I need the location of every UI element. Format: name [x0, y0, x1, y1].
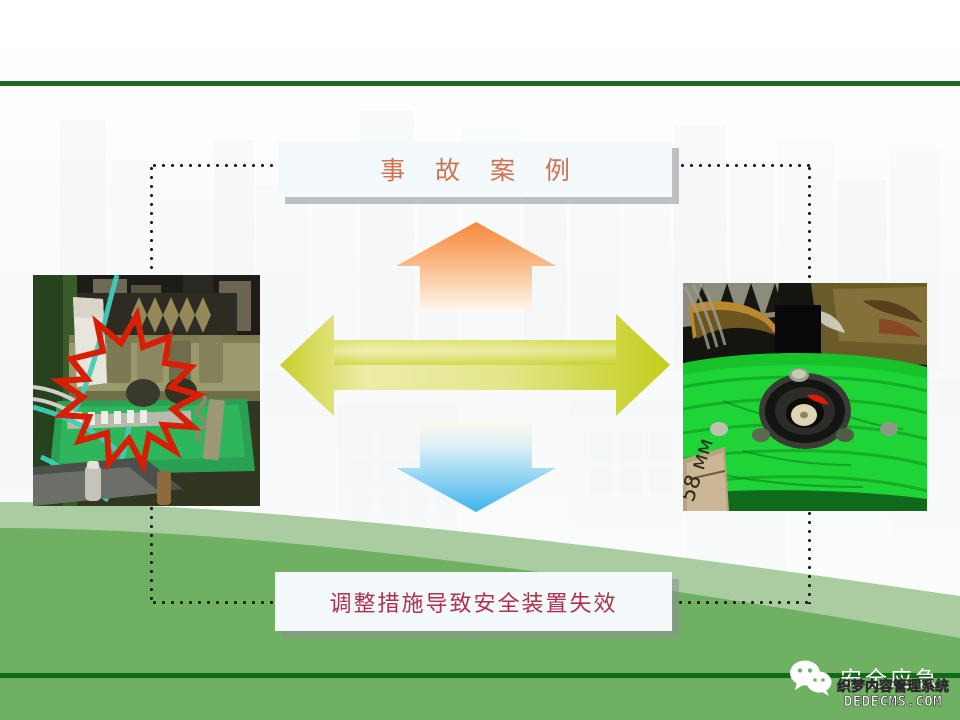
connector-top-right-vertical	[808, 164, 811, 286]
connector-top-right-horizontal	[678, 164, 811, 167]
damaged-part-photo[interactable]: 58 мм	[683, 283, 927, 511]
watermark-line-cn: 织梦内容管理系统	[826, 680, 960, 695]
page-title: 事 故 案 例	[369, 151, 581, 187]
connector-bottom-left-vertical	[150, 504, 153, 604]
watermark-line-en: DEDECMS.COM	[826, 695, 960, 710]
accident-machine-photo[interactable]	[33, 275, 260, 506]
caption-textbox[interactable]: 调整措施导致安全装置失效	[275, 572, 672, 631]
connector-bottom-right-vertical	[808, 509, 811, 604]
title-textbox[interactable]: 事 故 案 例	[278, 141, 672, 197]
accident-machine-photo-content	[33, 275, 260, 506]
caption-text: 调整措施导致安全装置失效	[329, 586, 617, 618]
damaged-part-photo-content: 58 мм	[683, 283, 927, 511]
connector-top-left-horizontal	[150, 164, 280, 167]
connector-bottom-right-horizontal	[676, 601, 810, 604]
double-headed-arrow	[280, 314, 670, 416]
connector-bottom-left-horizontal	[150, 601, 278, 604]
top-divider-rule	[0, 81, 960, 86]
slide-canvas: 事 故 案 例 调整措施导致安全装置失效	[0, 0, 960, 720]
up-arrow	[396, 222, 556, 310]
connector-top-left-vertical	[150, 164, 153, 278]
watermark: 织梦内容管理系统 DEDECMS.COM	[826, 680, 960, 716]
